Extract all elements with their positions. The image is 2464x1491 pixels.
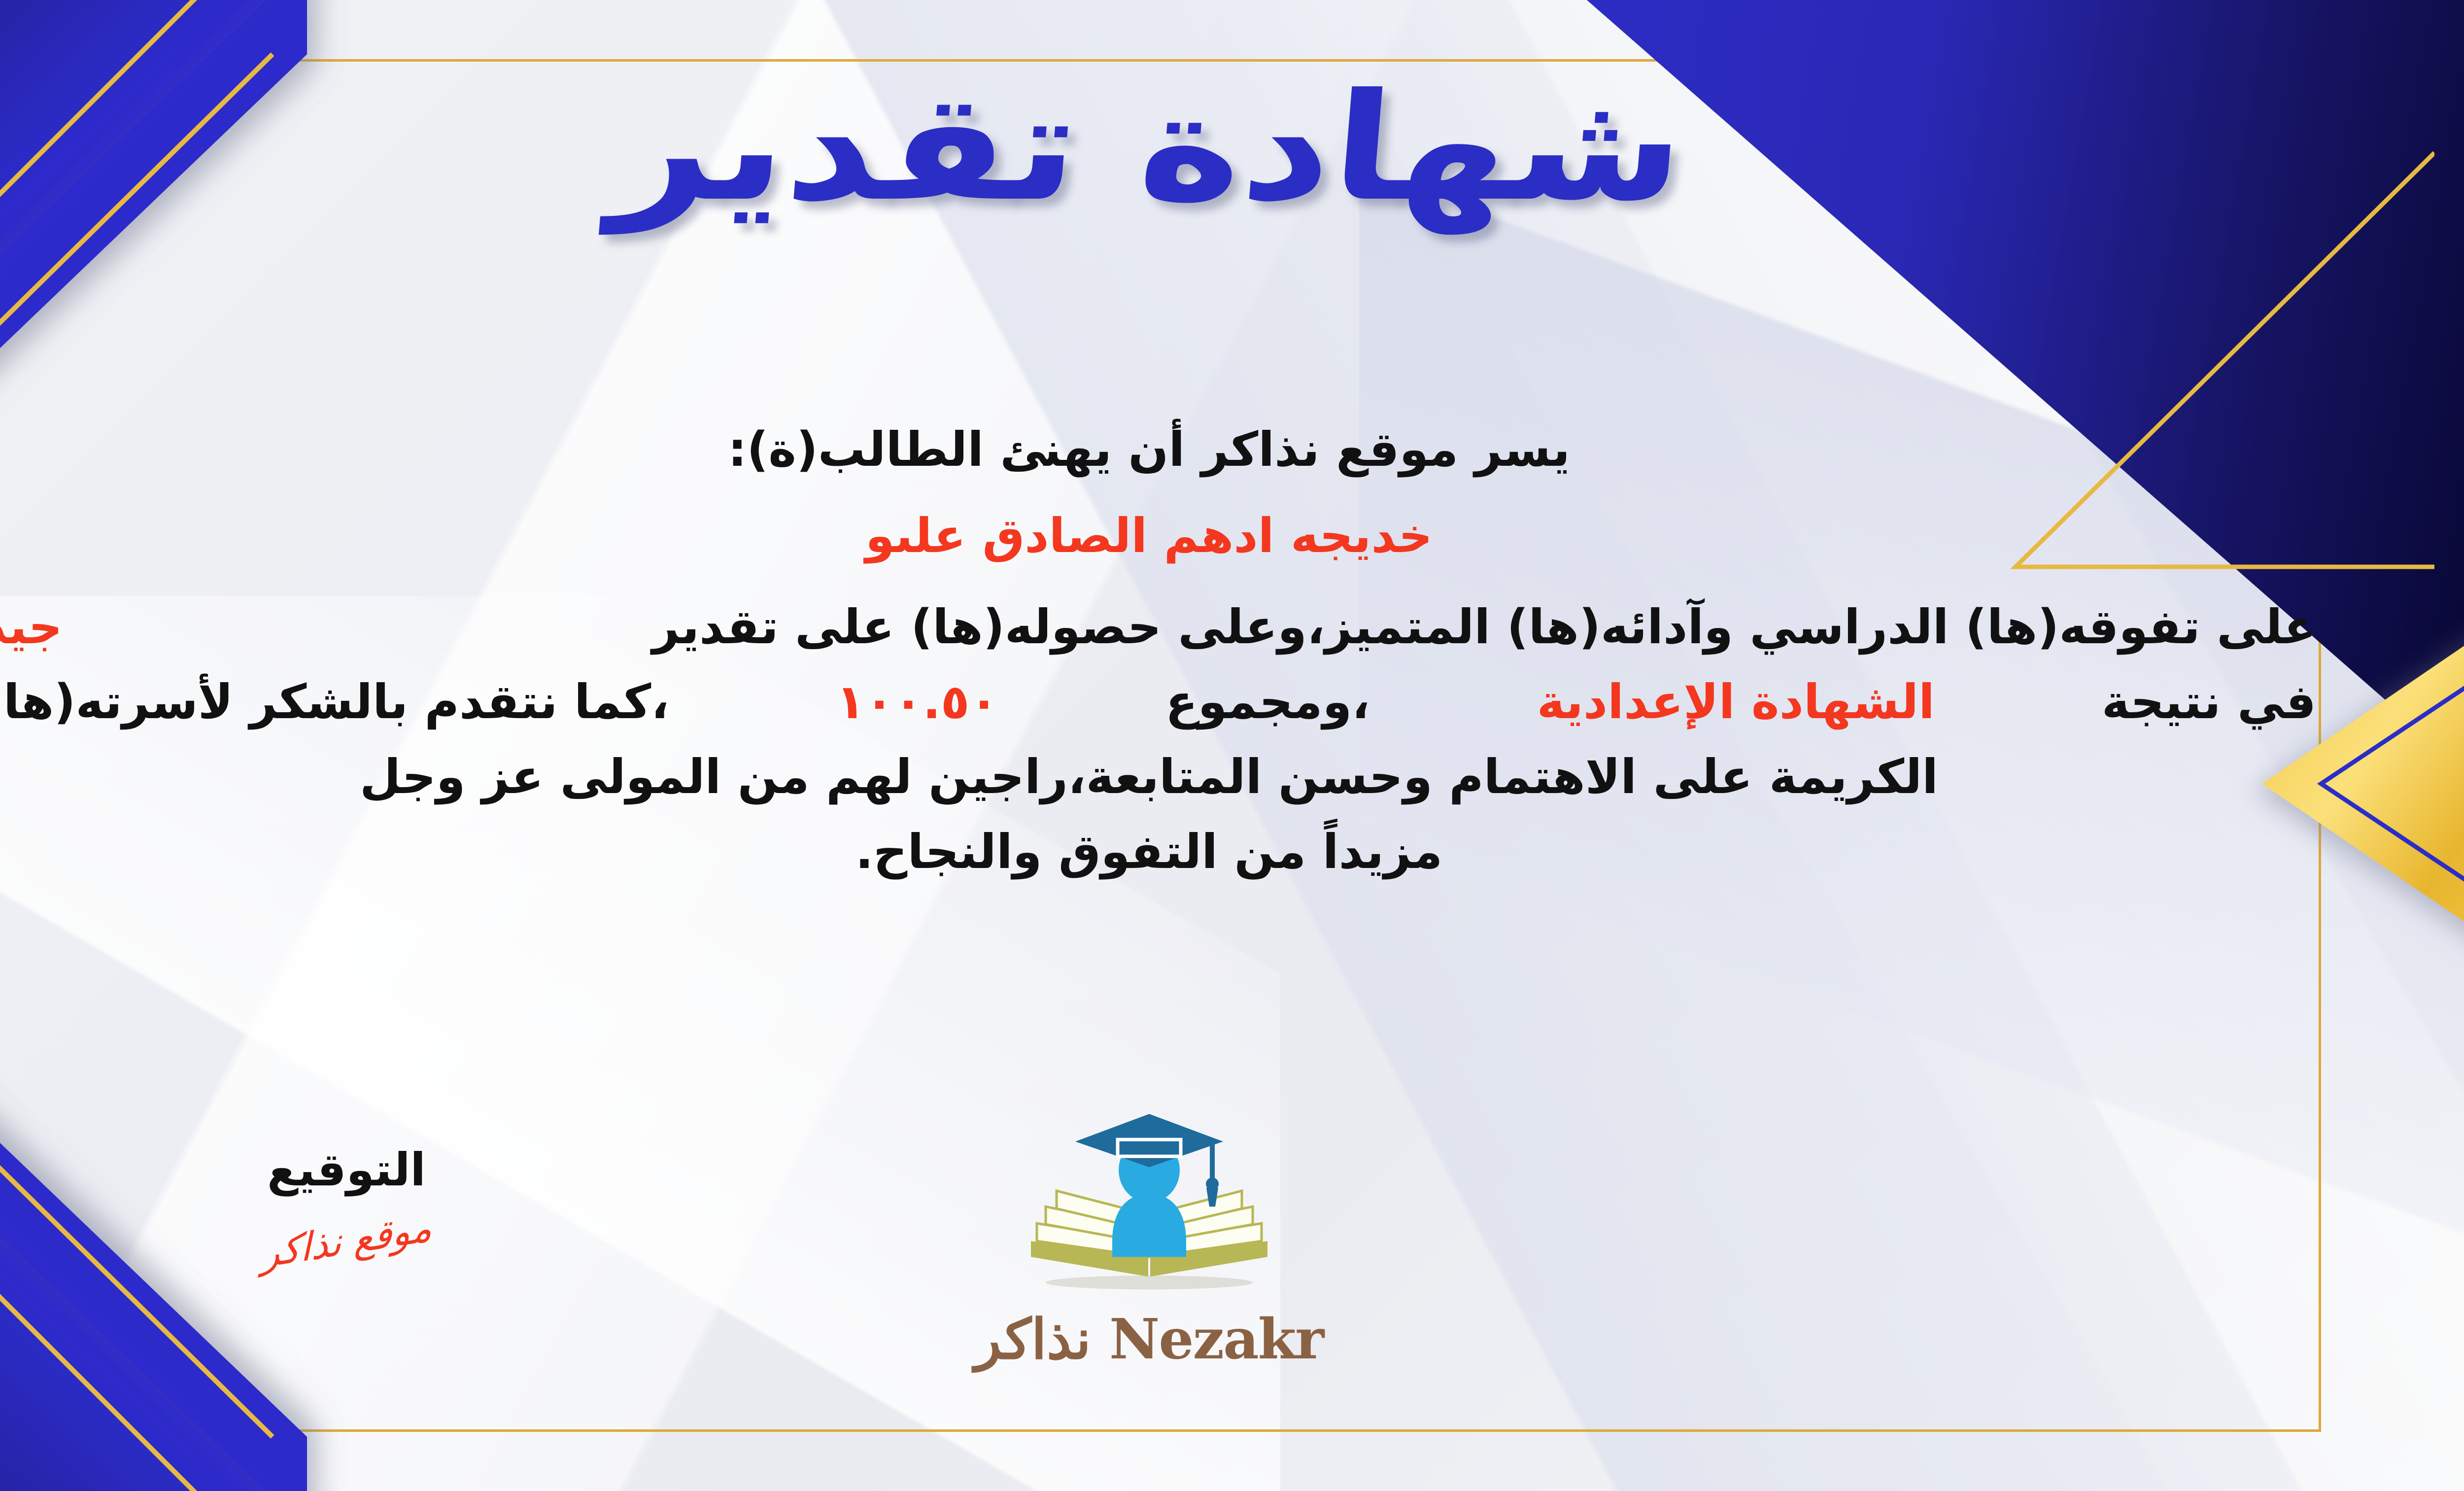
nezakr-logo: Nezakr نذاكر [927,1109,1371,1372]
signature-label: التوقيع [208,1144,484,1196]
thanks-text: ،كما نتقدم بالشكر لأسرته(ها) [0,666,669,738]
student-name: خديجه ادهم الصادق علىو [0,503,2316,569]
result-line: في نتيجة الشهادة الإعدادية ،ومجموع ١٠٠.٥… [0,666,2316,738]
certificate-body: يسر موقع نذاكر أن يهنئ الطالب(ة): خديجه … [0,414,2316,888]
frame-bottom-line [0,1429,2321,1432]
frame-right-line [2319,59,2321,1432]
signature-mark: موقع نذاكر [261,1205,432,1277]
certificate-canvas: شهادة تقدير يسر موقع نذاكر أن يهنئ الطال… [0,0,2464,1491]
praise-line: على تفوقه(ها) الدراسي وآدائه(ها) المتميز… [0,591,2316,663]
bottom-left-corner-ornament [0,1057,376,1491]
signature-block: التوقيع موقع نذاكر [208,1144,484,1263]
family-line: الكريمة على الاهتمام وحسن المتابعة،راجين… [0,741,2316,813]
total-value: ١٠٠.٥٠ [836,666,998,738]
greeting-line: يسر موقع نذاكر أن يهنئ الطالب(ة): [0,414,2316,486]
closing-line: مزيداً من التفوق والنجاح. [0,816,2316,888]
logo-wordmark: Nezakr نذاكر [927,1307,1371,1372]
page-title: شهادة تقدير [607,74,1691,222]
result-prefix: في نتيجة [2102,666,2316,738]
graduate-book-icon [1011,1109,1287,1306]
grade-value: جيد [0,591,63,663]
praise-text: على تفوقه(ها) الدراسي وآدائه(ها) المتميز… [652,591,2316,663]
total-label: ،ومجموع [1165,666,1370,738]
exam-name: الشهادة الإعدادية [1537,666,1935,738]
certificate-title-area: شهادة تقدير [0,74,2464,222]
